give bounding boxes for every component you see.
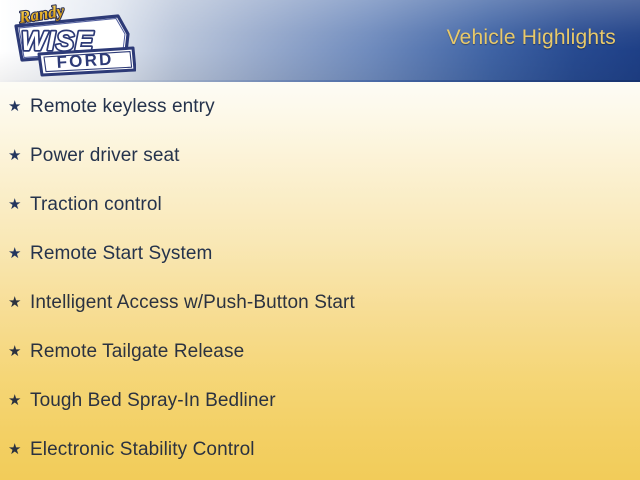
highlight-item-label: Traction control — [30, 194, 162, 216]
highlight-item: ★Traction control — [0, 180, 640, 229]
vehicle-highlights-slide: WISE Randy FORD Vehicle Highlights ★Remo… — [0, 0, 640, 480]
logo-ford-text: FORD — [56, 50, 114, 72]
highlight-item: ★Power driver seat — [0, 131, 640, 180]
star-bullet-icon: ★ — [8, 393, 30, 408]
highlight-item: ★Intelligent Access w/Push-Button Start — [0, 278, 640, 327]
dealer-logo[interactable]: WISE Randy FORD — [6, 4, 136, 78]
star-bullet-icon: ★ — [8, 148, 30, 163]
highlight-item: ★Remote Start System — [0, 229, 640, 278]
highlight-item: ★Electronic Stability Control — [0, 425, 640, 474]
star-bullet-icon: ★ — [8, 197, 30, 212]
star-bullet-icon: ★ — [8, 344, 30, 359]
page-title: Vehicle Highlights — [447, 26, 616, 50]
highlight-item: ★Tough Bed Spray-In Bedliner — [0, 376, 640, 425]
highlights-panel: ★Remote keyless entry★Power driver seat★… — [0, 82, 640, 480]
highlight-item-label: Power driver seat — [30, 145, 180, 167]
header-bar: WISE Randy FORD Vehicle Highlights — [0, 0, 640, 82]
highlight-item-label: Electronic Stability Control — [30, 439, 255, 461]
highlight-item: ★Remote Tailgate Release — [0, 327, 640, 376]
star-bullet-icon: ★ — [8, 295, 30, 310]
highlight-item-label: Intelligent Access w/Push-Button Start — [30, 292, 355, 314]
star-bullet-icon: ★ — [8, 246, 30, 261]
highlight-item-label: Remote keyless entry — [30, 96, 215, 118]
star-bullet-icon: ★ — [8, 442, 30, 457]
star-bullet-icon: ★ — [8, 99, 30, 114]
highlight-item-label: Tough Bed Spray-In Bedliner — [30, 390, 276, 412]
highlight-item-label: Remote Start System — [30, 243, 212, 265]
highlight-item: ★Remote keyless entry — [0, 82, 640, 131]
highlights-list: ★Remote keyless entry★Power driver seat★… — [0, 82, 640, 474]
highlight-item-label: Remote Tailgate Release — [30, 341, 244, 363]
